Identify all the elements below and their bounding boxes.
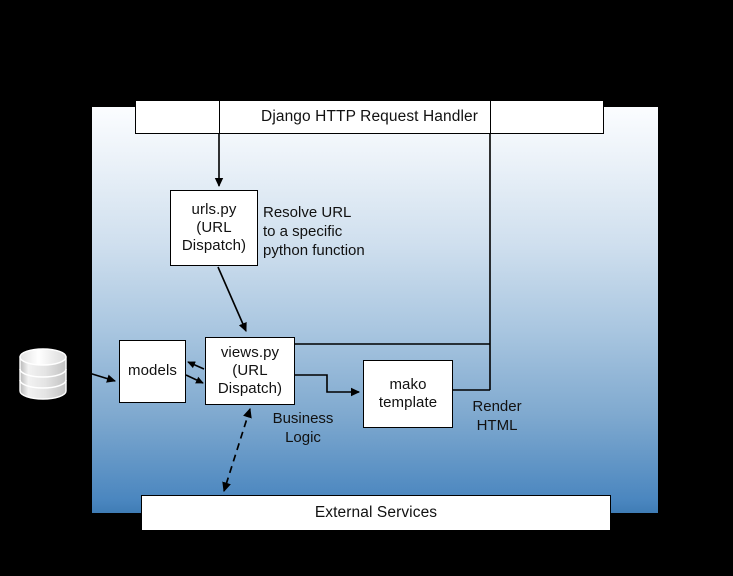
node-urls-line3: Dispatch) <box>182 237 246 255</box>
node-django-label: Django HTTP Request Handler <box>261 108 478 127</box>
django-header-divider-right <box>490 100 491 134</box>
diagram-canvas: Django HTTP Request Handler urls.py (URL… <box>0 0 733 576</box>
node-django-http-request-handler[interactable]: Django HTTP Request Handler <box>135 100 604 134</box>
node-views-py[interactable]: views.py (URL Dispatch) <box>205 337 295 405</box>
node-views-line3: Dispatch) <box>218 380 282 398</box>
django-header-divider-left <box>219 100 220 134</box>
node-models[interactable]: models <box>119 340 186 403</box>
node-urls-line1: urls.py <box>182 201 246 219</box>
node-views-line2: (URL <box>218 362 282 380</box>
node-external-services[interactable]: External Services <box>141 495 611 531</box>
node-mako-template[interactable]: mako template <box>363 360 453 428</box>
annotation-resolve-url: Resolve URL to a specific python functio… <box>263 204 393 260</box>
node-external-label: External Services <box>315 504 437 523</box>
annotation-business-logic: Business Logic <box>255 410 351 448</box>
node-urls-line2: (URL <box>182 219 246 237</box>
annotation-render-html: Render HTML <box>459 398 535 436</box>
node-mako-line2: template <box>379 394 437 412</box>
database-cylinder-icon <box>17 346 69 402</box>
node-urls-py[interactable]: urls.py (URL Dispatch) <box>170 190 258 266</box>
node-models-label: models <box>128 362 177 380</box>
django-scope-panel <box>92 107 658 513</box>
node-mako-line1: mako <box>379 376 437 394</box>
node-views-line1: views.py <box>218 344 282 362</box>
